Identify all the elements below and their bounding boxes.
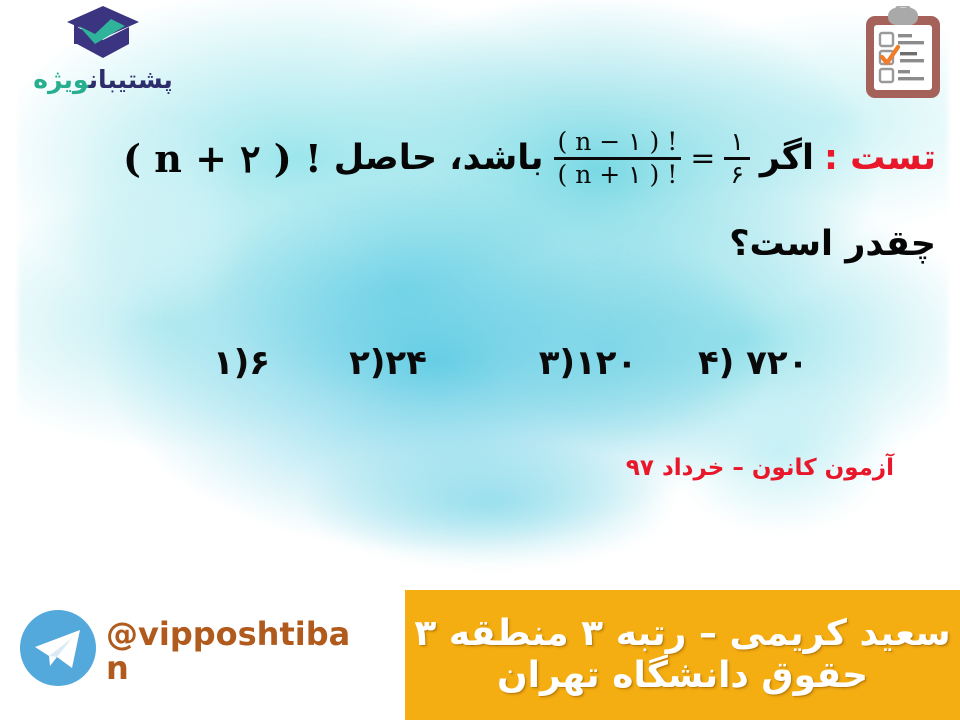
- telegram-paper-plane-icon[interactable]: [18, 608, 98, 692]
- right-fraction-numerator: ۱: [724, 129, 749, 155]
- answer-options-row: ۷۲۰ (۴ ۱۲۰(۳ ۲۴(۲ ۶(۱: [0, 336, 960, 390]
- credit-line-2: حقوق دانشگاه تهران: [497, 655, 868, 697]
- brand-name-part-2: ویژه: [33, 65, 88, 94]
- credit-banner: سعید کریمی – رتبه ۳ منطقه ۳ حقوق دانشگاه…: [405, 590, 960, 720]
- answer-option-4[interactable]: ۷۲۰ (۴: [688, 343, 898, 383]
- left-fraction-numerator: ( n − ۱ ) !: [554, 129, 682, 155]
- left-fraction: ( n − ۱ ) ! ( n + ۱ ) !: [554, 129, 682, 187]
- question-label: تست :: [824, 138, 936, 178]
- answer-option-1[interactable]: ۶(۱: [70, 343, 288, 383]
- answer-option-3[interactable]: ۱۲۰(۳: [488, 343, 688, 383]
- right-fraction: ۱ ۶: [724, 129, 749, 187]
- equals-sign: =: [690, 141, 715, 176]
- credit-line-1: سعید کریمی – رتبه ۳ منطقه ۳: [414, 613, 950, 655]
- right-fraction-denominator: ۶: [724, 162, 749, 188]
- left-fraction-denominator: ( n + ۱ ) !: [554, 162, 682, 188]
- clipboard-checklist-icon: [860, 6, 946, 102]
- graduation-cap-check-icon: [18, 4, 188, 66]
- telegram-handle[interactable]: @vipposhtiban: [106, 618, 351, 685]
- slide-canvas: پشتیبانویژه تست : اگر ( n − ۱ ) !: [0, 0, 960, 720]
- brand-name: پشتیبانویژه: [18, 67, 188, 92]
- exam-source-note: آزمون کانون – خرداد ۹۷: [626, 455, 894, 481]
- equation: ( n − ۱ ) ! ( n + ۱ ) ! = ۱ ۶: [554, 129, 750, 187]
- question-expression: ( n + ۲ ) !: [123, 136, 322, 181]
- brand-name-part-1: پشتیبان: [89, 65, 173, 94]
- brand-logo: پشتیبانویژه: [18, 4, 188, 100]
- answer-option-2[interactable]: ۲۴(۲: [288, 343, 488, 383]
- question-intro: اگر: [760, 138, 814, 178]
- question-line-2: چقدر است؟: [729, 224, 936, 264]
- telegram-contact-block[interactable]: @vipposhtiban: [10, 600, 350, 710]
- question-line-1: تست : اگر ( n − ۱ ) ! ( n + ۱ ) ! = ۱ ۶ …: [24, 112, 936, 204]
- watercolor-edge-left: [30, 60, 290, 380]
- question-middle-text: باشد، حاصل: [334, 138, 544, 178]
